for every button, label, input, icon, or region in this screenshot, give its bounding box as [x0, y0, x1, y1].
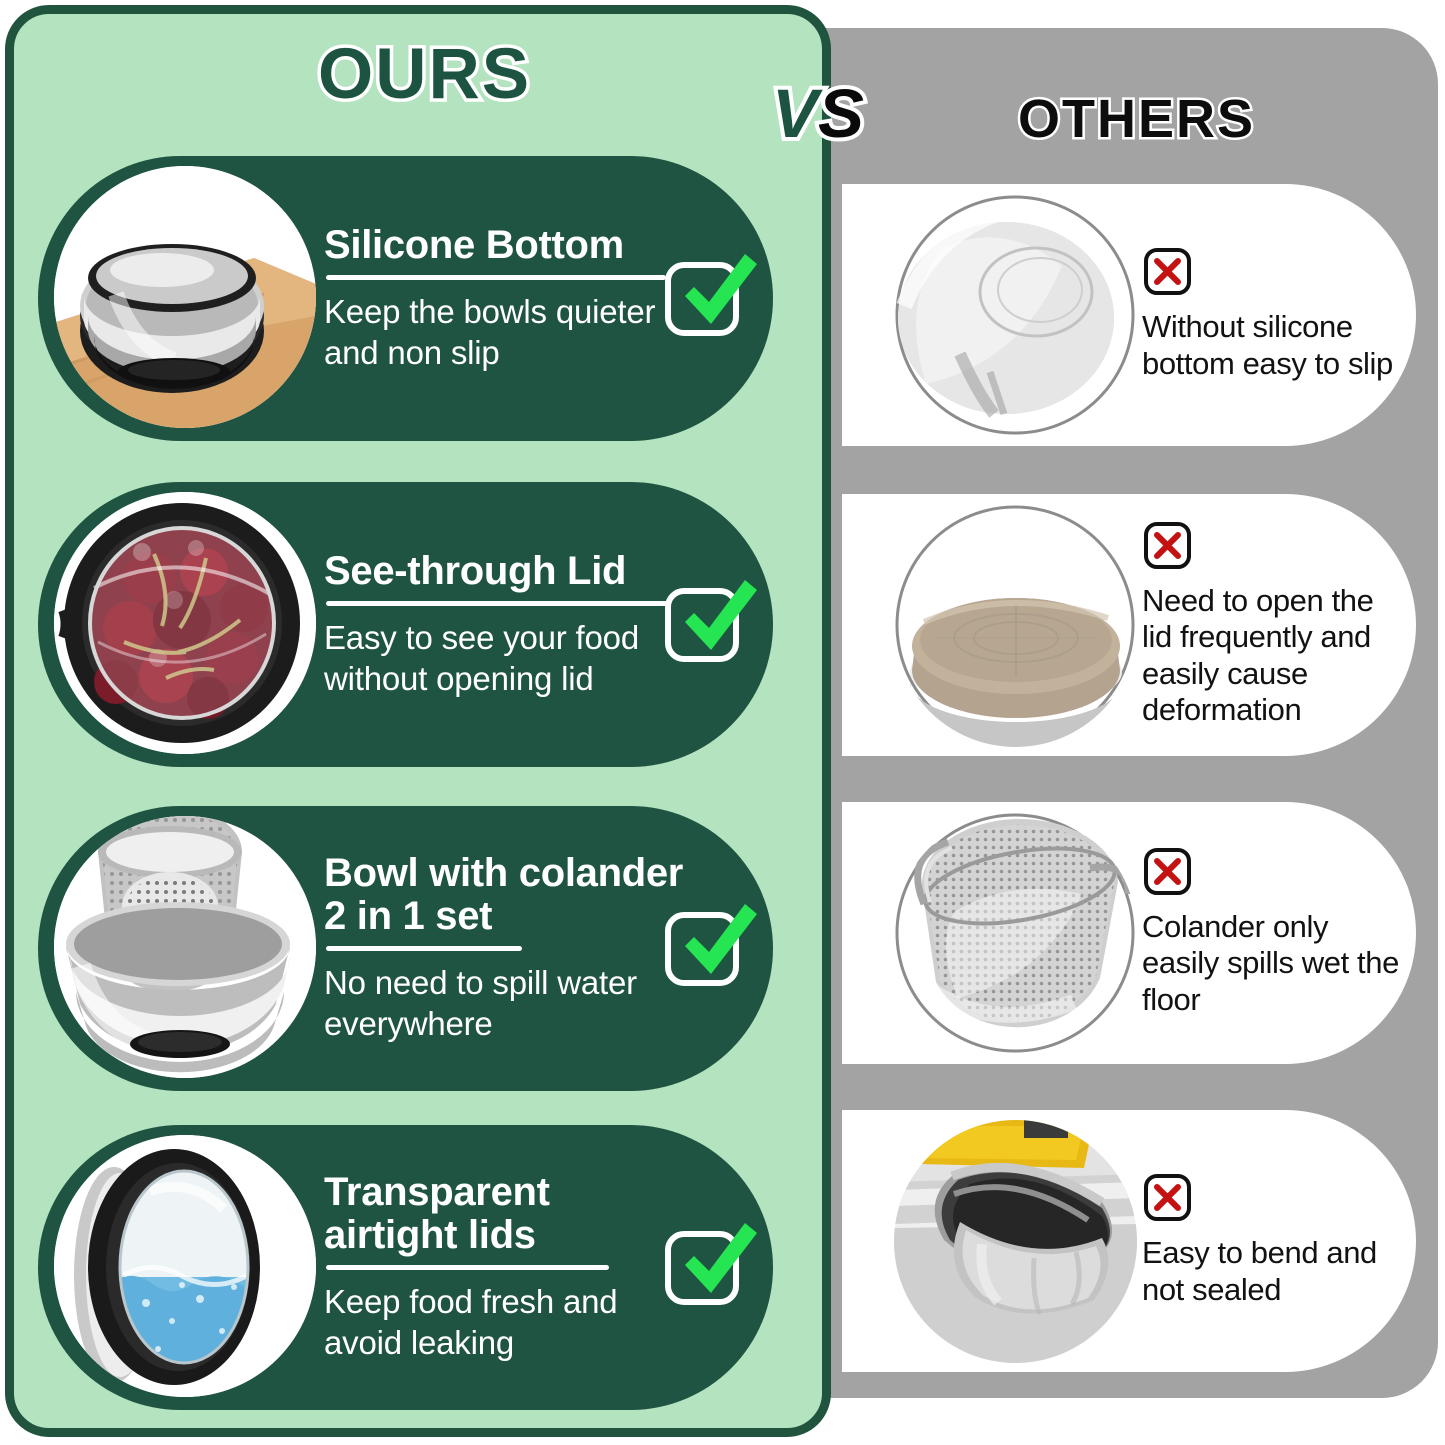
check-tick-icon: [669, 574, 761, 666]
check-icon: [665, 1225, 751, 1311]
others-row-content: Colander only easily spills wet the floo…: [1142, 802, 1404, 1064]
x-mark-icon: [1144, 522, 1191, 569]
ours-thumbnail: [54, 816, 316, 1078]
ours-feature-title: Bowl with colander 2 in 1 set: [324, 852, 684, 938]
others-row-content: Without silicone bottom easy to slip: [1142, 184, 1404, 446]
ours-thumbnail: [54, 492, 316, 754]
check-icon: [665, 582, 751, 668]
transparent-airtight-lid-water-image: [54, 1135, 316, 1397]
steel-bowl-silicone-bottom-image: [54, 166, 316, 428]
others-feature-row[interactable]: Without silicone bottom easy to slip: [842, 184, 1416, 446]
x-mark-icon: [1144, 248, 1191, 295]
others-feature-desc: Without silicone bottom easy to slip: [1142, 309, 1404, 382]
others-row-content: Easy to bend and not sealed: [1142, 1110, 1404, 1372]
cherries-under-clear-lid-image: [54, 492, 316, 754]
others-feature-row[interactable]: Colander only easily spills wet the floo…: [842, 802, 1416, 1064]
ours-heading: OURS: [318, 34, 531, 115]
x-mark-icon: [1144, 848, 1191, 895]
others-thumbnail: [894, 504, 1137, 747]
others-feature-desc: Easy to bend and not sealed: [1142, 1235, 1404, 1308]
x-mark-icon: [1144, 1174, 1191, 1221]
check-icon: [665, 906, 751, 992]
x-icon: [1144, 522, 1191, 569]
x-icon: [1144, 248, 1191, 295]
others-feature-desc: Need to open the lid frequently and easi…: [1142, 583, 1404, 728]
ours-feature-title: See-through Lid: [324, 550, 684, 593]
check-icon: [665, 256, 751, 342]
ours-row-text: Transparent airtight lids Keep food fres…: [324, 1125, 684, 1410]
others-thumbnail: [894, 812, 1137, 1055]
x-icon: [1144, 848, 1191, 895]
check-tick-icon: [669, 1217, 761, 1309]
plain-steel-bowl-upside-down-image: [894, 194, 1137, 437]
ours-thumbnail: [54, 166, 316, 428]
steel-colander-image: [894, 812, 1137, 1055]
title-underline: [326, 1265, 609, 1270]
ours-row-text: See-through Lid Easy to see your food wi…: [324, 482, 684, 767]
ours-feature-title: Silicone Bottom: [324, 224, 684, 267]
others-thumbnail: [894, 194, 1137, 437]
title-underline: [326, 275, 666, 280]
title-underline: [326, 601, 668, 606]
vs-letter-v: V: [772, 75, 818, 152]
ours-row-text: Bowl with colander 2 in 1 set No need to…: [324, 806, 684, 1091]
ours-feature-desc: Keep food fresh and avoid leaking: [324, 1281, 684, 1364]
others-heading: OTHERS: [1018, 88, 1255, 150]
ours-feature-desc: Easy to see your food without opening li…: [324, 617, 684, 700]
ours-feature-row[interactable]: Bowl with colander 2 in 1 set No need to…: [38, 806, 773, 1091]
others-feature-row[interactable]: Need to open the lid frequently and easi…: [842, 494, 1416, 756]
others-row-content: Need to open the lid frequently and easi…: [1142, 494, 1404, 756]
x-icon: [1144, 1174, 1191, 1221]
check-tick-icon: [669, 248, 761, 340]
ours-feature-row[interactable]: Silicone Bottom Keep the bowls quieter a…: [38, 156, 773, 441]
comparison-infographic: OURS OTHERS VS: [0, 0, 1445, 1445]
ours-feature-desc: No need to spill water everywhere: [324, 962, 684, 1045]
ours-feature-row[interactable]: Transparent airtight lids Keep food fres…: [38, 1125, 773, 1410]
ours-row-text: Silicone Bottom Keep the bowls quieter a…: [324, 156, 684, 441]
others-feature-row[interactable]: Easy to bend and not sealed: [842, 1110, 1416, 1372]
vs-letter-s: S: [818, 75, 864, 152]
ours-thumbnail: [54, 1135, 316, 1397]
check-tick-icon: [669, 898, 761, 990]
ours-feature-desc: Keep the bowls quieter and non slip: [324, 291, 684, 374]
others-feature-desc: Colander only easily spills wet the floo…: [1142, 909, 1404, 1018]
vs-heading: VS: [772, 74, 864, 153]
bent-unsealed-lid-image: [894, 1120, 1137, 1363]
ours-feature-title: Transparent airtight lids: [324, 1171, 684, 1257]
title-underline: [326, 946, 522, 951]
others-thumbnail: [894, 1120, 1137, 1363]
ours-feature-row[interactable]: See-through Lid Easy to see your food wi…: [38, 482, 773, 767]
beige-plastic-lid-image: [894, 504, 1137, 747]
bowl-with-colander-image: [54, 816, 316, 1078]
